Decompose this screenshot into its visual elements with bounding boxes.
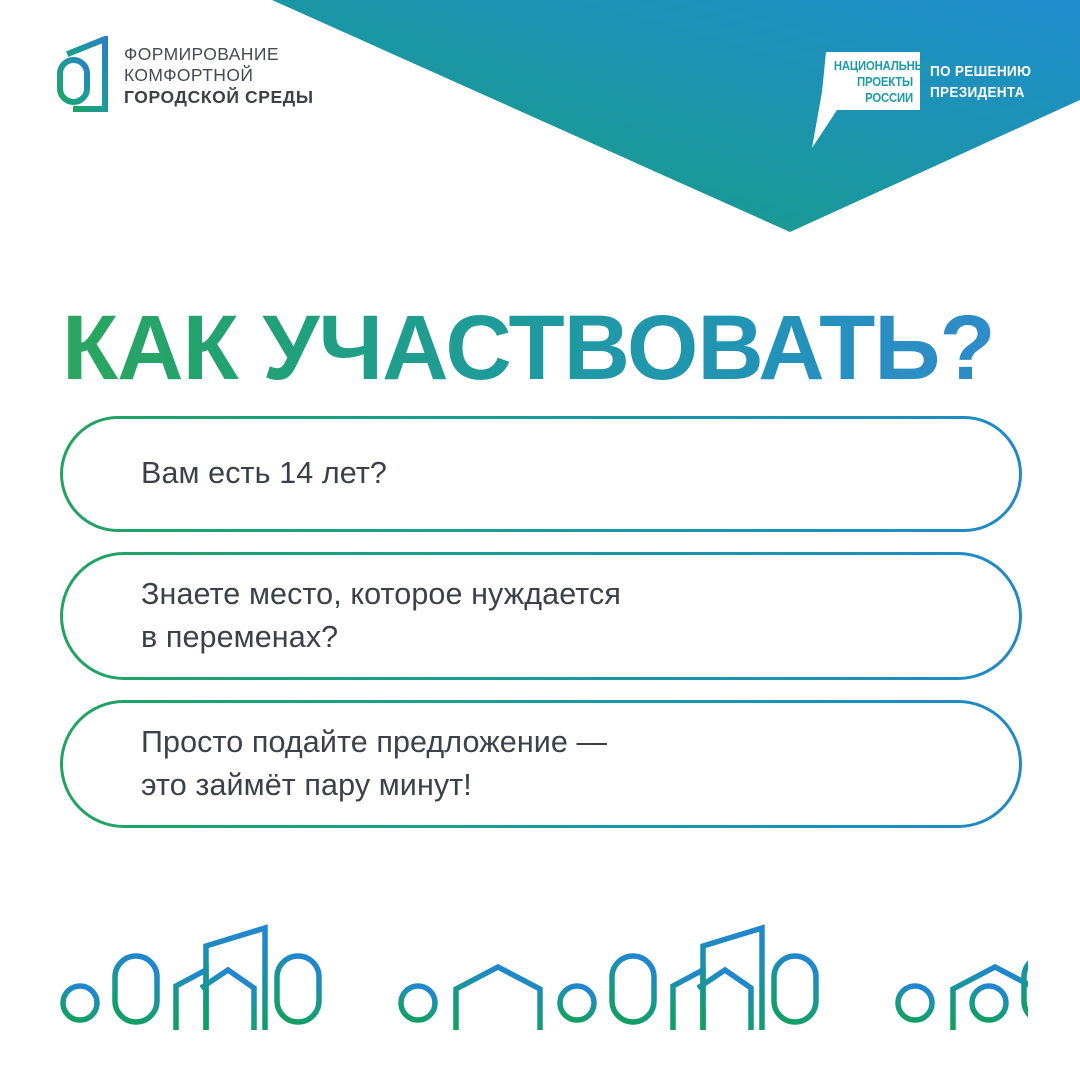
page-title: КАК УЧАСТВОВАТЬ?: [62, 300, 1022, 397]
step-card-3-text: Просто подайте предложение — это займёт …: [141, 721, 607, 808]
step-card-3[interactable]: Просто подайте предложение — это займёт …: [60, 700, 1022, 828]
brand-logo: ФОРМИРОВАНИЕ КОМФОРТНОЙ ГОРОДСКОЙ СРЕДЫ: [56, 36, 314, 128]
house-key-logo-icon: [56, 36, 110, 128]
np-logo-line-1: НАЦИОНАЛЬНЫЕ: [834, 58, 913, 74]
city-skyline-illustration: [58, 918, 1028, 1030]
step-card-1[interactable]: Вам есть 14 лет?: [60, 416, 1022, 532]
brand-line-2: КОМФОРТНОЙ: [124, 65, 314, 86]
np-slogan-line-1: ПО РЕШЕНИЮ: [930, 62, 1031, 83]
national-projects-badge: НАЦИОНАЛЬНЫЕ ПРОЕКТЫ РОССИИ ПО РЕШЕНИЮ П…: [812, 52, 1039, 148]
national-projects-logo-text: НАЦИОНАЛЬНЫЕ ПРОЕКТЫ РОССИИ: [834, 58, 913, 106]
step-card-2-text: Знаете место, которое нуждается в переме…: [141, 573, 621, 660]
brand-line-1: ФОРМИРОВАНИЕ: [124, 44, 314, 65]
np-logo-line-2: ПРОЕКТЫ: [834, 74, 913, 90]
brand-text: ФОРМИРОВАНИЕ КОМФОРТНОЙ ГОРОДСКОЙ СРЕДЫ: [124, 44, 314, 108]
brand-line-3: ГОРОДСКОЙ СРЕДЫ: [124, 87, 314, 108]
national-projects-slogan: ПО РЕШЕНИЮ ПРЕЗИДЕНТА: [930, 62, 1031, 103]
np-logo-line-3: РОССИИ: [834, 90, 913, 106]
poster-root: ФОРМИРОВАНИЕ КОМФОРТНОЙ ГОРОДСКОЙ СРЕДЫ …: [0, 0, 1080, 1080]
national-projects-badge-icon: НАЦИОНАЛЬНЫЕ ПРОЕКТЫ РОССИИ: [812, 52, 920, 148]
step-card-2[interactable]: Знаете место, которое нуждается в переме…: [60, 552, 1022, 680]
step-card-1-text: Вам есть 14 лет?: [141, 452, 387, 495]
np-slogan-line-2: ПРЕЗИДЕНТА: [930, 83, 1031, 104]
steps-list: Вам есть 14 лет? Знаете место, которое н…: [60, 416, 1022, 848]
